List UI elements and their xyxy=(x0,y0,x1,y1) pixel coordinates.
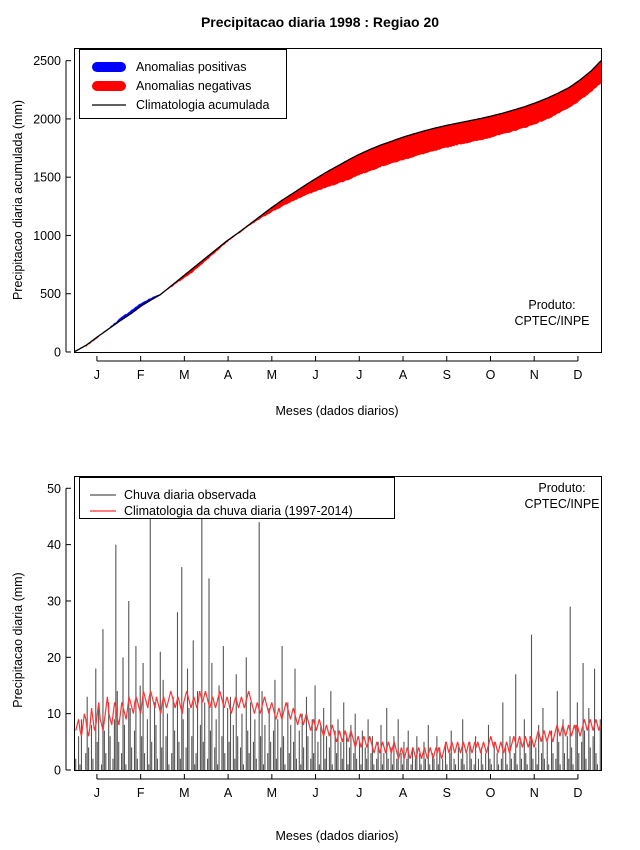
x-tick-label: A xyxy=(224,786,233,800)
x-tick-label: J xyxy=(356,368,362,382)
legend-label-negative-anomaly: Anomalias negativas xyxy=(136,79,251,93)
precipitation-figure: Precipitacao diaria 1998 : Regiao 20 050… xyxy=(0,0,640,850)
daily-produto-line-1: Produto: xyxy=(538,481,585,495)
x-tick-label: F xyxy=(137,368,145,382)
x-tick-label: A xyxy=(224,368,233,382)
daily-legend: Chuva diaria observada Climatologia da c… xyxy=(80,478,395,519)
x-tick-label: M xyxy=(267,786,277,800)
x-tick-label: D xyxy=(573,786,582,800)
x-tick-label: N xyxy=(530,368,539,382)
x-tick-label: A xyxy=(399,368,408,382)
x-tick-label: N xyxy=(530,786,539,800)
y-tick-label: 2000 xyxy=(33,112,61,126)
cumulative-legend: Anomalias positivas Anomalias negativas … xyxy=(80,50,287,119)
daily-x-axis-label: Meses (dados diarios) xyxy=(276,829,399,843)
x-tick-label: M xyxy=(179,786,189,800)
y-tick-label: 1500 xyxy=(33,171,61,185)
x-tick-label: M xyxy=(267,368,277,382)
daily-produto-line-2: CPTEC/INPE xyxy=(524,497,599,511)
figure-canvas: Precipitacao diaria 1998 : Regiao 20 050… xyxy=(0,0,640,850)
x-tick-label: S xyxy=(443,786,451,800)
x-tick-label: J xyxy=(356,786,362,800)
x-tick-label: S xyxy=(443,368,451,382)
daily-y-axis-label: Precipitacao diaria (mm) xyxy=(11,572,25,707)
x-tick-label: O xyxy=(486,368,496,382)
x-tick-label: J xyxy=(312,368,318,382)
y-tick-label: 500 xyxy=(40,287,61,301)
x-tick-label: D xyxy=(573,368,582,382)
cumulative-y-axis-label: Precipitacao diaria acumulada (mm) xyxy=(11,100,25,300)
x-tick-label: F xyxy=(137,786,145,800)
y-tick-label: 40 xyxy=(47,538,61,552)
y-tick-label: 2500 xyxy=(33,54,61,68)
x-tick-label: A xyxy=(399,786,408,800)
legend-label-climatology-line: Climatologia acumulada xyxy=(136,98,269,112)
y-tick-label: 10 xyxy=(47,707,61,721)
produto-line-2: CPTEC/INPE xyxy=(514,314,589,328)
legend-label-daily-climatology: Climatologia da chuva diaria (1997-2014) xyxy=(124,504,353,518)
y-tick-label: 0 xyxy=(54,346,61,360)
produto-line-1: Produto: xyxy=(528,298,575,312)
y-tick-label: 30 xyxy=(47,594,61,608)
x-tick-label: O xyxy=(486,786,496,800)
legend-label-observed-rain: Chuva diaria observada xyxy=(124,488,256,502)
legend-swatch-negative-anomaly xyxy=(92,81,126,91)
legend-label-positive-anomaly: Anomalias positivas xyxy=(136,60,246,74)
x-tick-label: M xyxy=(179,368,189,382)
x-tick-label: J xyxy=(312,786,318,800)
legend-swatch-positive-anomaly xyxy=(92,62,126,72)
x-tick-label: J xyxy=(94,786,100,800)
cumulative-x-axis-label: Meses (dados diarios) xyxy=(276,404,399,418)
y-tick-label: 0 xyxy=(54,764,61,778)
y-tick-label: 50 xyxy=(47,482,61,496)
x-tick-label: J xyxy=(94,368,100,382)
y-tick-label: 1000 xyxy=(33,229,61,243)
page-title: Precipitacao diaria 1998 : Regiao 20 xyxy=(201,14,439,30)
y-tick-label: 20 xyxy=(47,651,61,665)
